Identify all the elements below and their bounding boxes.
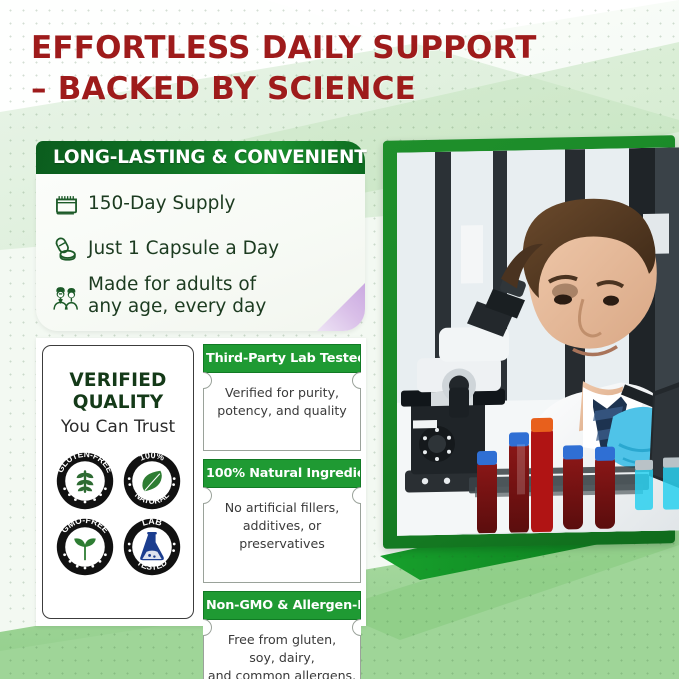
benefit-item-adults-line-1: Made for adults of [88,274,266,296]
benefits-card-header-label: LONG-LASTING & CONVENIENT [53,147,367,168]
people-icon [44,284,88,315]
headline-line-2: – BACKED BY SCIENCE [31,69,501,110]
benefits-card-header: LONG-LASTING & CONVENIENT [36,141,365,174]
ticket-body: Verified for purity, potency, and qualit… [203,373,361,451]
benefits-card-body: 150-Day Supply Just 1 Capsule a Day [36,174,365,331]
headline-line-1: EFFORTLESS DAILY SUPPORT [31,28,501,69]
ticket-natural-ingredients: 100% Natural Ingredients No artificial f… [203,459,361,584]
ticket-heading: Non-GMO & Allergen-Free [203,591,361,620]
ticket-body-line-1: Free from gluten, [206,631,358,649]
benefit-item-capsule: Just 1 Capsule a Day [44,228,359,270]
benefit-item-adults-line-2: any age, every day [88,296,266,318]
ticket-heading: 100% Natural Ingredients [203,459,361,488]
ticket-body-line-2: additives, or preservatives [208,517,356,553]
ticket-body-line-2: potency, and quality [217,402,347,420]
ticket-body-line-2: soy, dairy, [206,649,358,667]
verified-quality-subtitle: You Can Trust [43,417,193,437]
ticket-body: Free from gluten, soy, dairy, and common… [203,620,361,679]
ticket-body-line-1: Verified for purity, [217,384,347,402]
verified-quality-box: VERIFIED QUALITY You Can Trust GLUTEN-FR… [42,345,194,619]
verified-quality-title-line-1: VERIFIED [43,370,193,392]
ticket-notch-left [203,372,212,389]
ticket-third-party-lab-tested: Third-Party Lab Tested Verified for puri… [203,344,361,451]
ticket-body-line-3: and common allergens. [206,667,358,679]
natural-seal: 100% NATURAL [122,451,182,511]
benefit-item-supply-label: 150-Day Supply [88,193,235,215]
seal-grid: GLUTEN-FREE 100% [43,451,193,577]
benefits-card: LONG-LASTING & CONVENIENT 150-Day Supply [36,141,365,331]
benefit-item-adults: Made for adults of any age, every day [44,274,359,332]
ticket-notch-right [352,487,361,504]
capsule-icon [44,235,88,263]
ticket-body-line-1: No artificial fillers, [208,499,356,517]
calendar-icon [44,191,88,218]
claims-list: Third-Party Lab Tested Verified for puri… [203,344,361,679]
page-title: EFFORTLESS DAILY SUPPORT – BACKED BY SCI… [31,28,501,110]
ticket-non-gmo-allergen-free: Non-GMO & Allergen-Free Free from gluten… [203,591,361,679]
lab-scientist-microscope-photo [383,138,675,546]
gmo-free-seal: GMO-FREE [55,517,115,577]
ticket-heading: Third-Party Lab Tested [203,344,361,373]
photo-image [397,147,679,535]
lab-tested-seal: LAB TESTED [122,517,182,577]
ticket-notch-right [352,372,361,389]
gluten-free-seal: GLUTEN-FREE [55,451,115,511]
verified-quality-title-line-2: QUALITY [43,392,193,414]
benefit-item-adults-label: Made for adults of any age, every day [88,274,266,318]
benefit-item-supply: 150-Day Supply [44,184,359,224]
ticket-body: No artificial fillers, additives, or pre… [203,488,361,584]
benefit-item-capsule-label: Just 1 Capsule a Day [88,238,279,260]
